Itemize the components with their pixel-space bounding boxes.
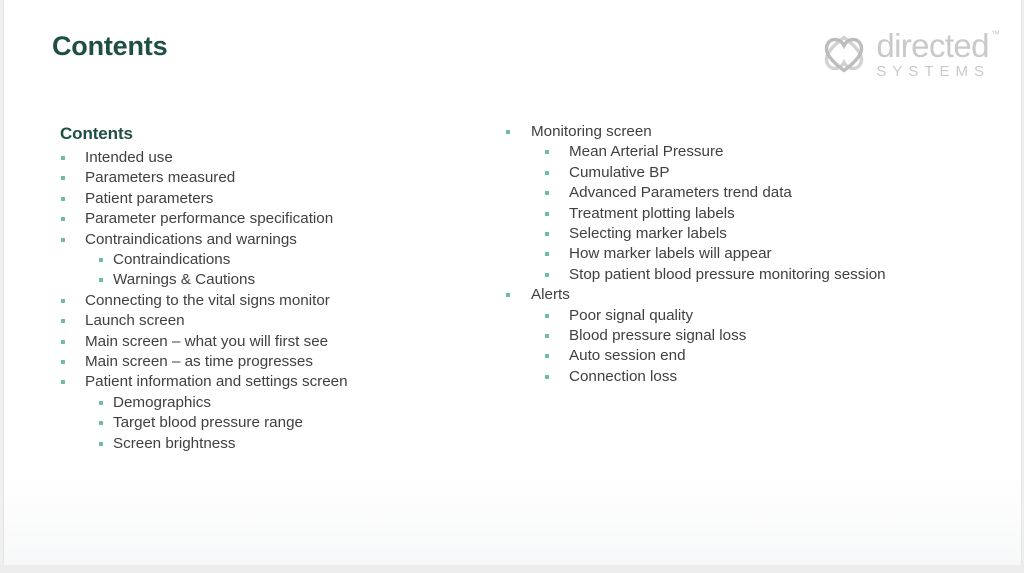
bullet-icon (545, 212, 549, 216)
list-item[interactable]: Cumulative BP (498, 163, 886, 183)
bullet-icon (545, 252, 549, 256)
page-title: Contents (52, 31, 167, 62)
list-item[interactable]: Warnings & Cautions (52, 270, 348, 290)
bullet-icon (99, 421, 103, 425)
logo-wordmark-text: directed (876, 27, 989, 64)
slide-viewer: Contents directed™ SYSTEMS Contents (0, 0, 1024, 573)
contents-list-right: Monitoring screen Mean Arterial Pressure… (498, 122, 886, 387)
list-item-label: Connection loss (569, 368, 677, 385)
list-item-label: Contraindications and warnings (85, 231, 297, 248)
list-item-label: Intended use (85, 149, 173, 166)
list-item-label: Stop patient blood pressure monitoring s… (569, 266, 886, 283)
bullet-icon (545, 171, 549, 175)
bullet-icon (61, 217, 65, 221)
list-item-label: Warnings & Cautions (113, 271, 255, 288)
list-item[interactable]: Contraindications (52, 250, 348, 270)
list-item[interactable]: Main screen – what you will first see (52, 332, 348, 352)
list-item-label: Monitoring screen (531, 123, 652, 140)
brand-logo: directed™ SYSTEMS (820, 29, 991, 79)
bullet-icon (61, 319, 65, 323)
bullet-icon (61, 238, 65, 242)
list-item[interactable]: Treatment plotting labels (498, 204, 886, 224)
list-item-label: Contraindications (113, 251, 230, 268)
list-item-label: Main screen – as time progresses (85, 353, 313, 370)
list-item[interactable]: Connecting to the vital signs monitor (52, 291, 348, 311)
list-item-label: Parameter performance specification (85, 210, 333, 227)
bullet-icon (61, 380, 65, 384)
list-item-label: How marker labels will appear (569, 245, 772, 262)
list-item-label: Demographics (113, 394, 211, 411)
list-item-label: Main screen – what you will first see (85, 333, 328, 350)
interlocking-loops-logo-icon (820, 30, 868, 78)
list-item[interactable]: Selecting marker labels (498, 224, 886, 244)
list-item-label: Selecting marker labels (569, 225, 727, 242)
list-item-label: Blood pressure signal loss (569, 327, 746, 344)
list-item-label: Launch screen (85, 312, 185, 329)
list-item-label: Target blood pressure range (113, 414, 303, 431)
list-item-label: Connecting to the vital signs monitor (85, 292, 330, 309)
list-item[interactable]: Connection loss (498, 367, 886, 387)
list-item[interactable]: Poor signal quality (498, 306, 886, 326)
list-item[interactable]: Blood pressure signal loss (498, 326, 886, 346)
list-item-label: Cumulative BP (569, 164, 669, 181)
list-item[interactable]: Main screen – as time progresses (52, 352, 348, 372)
list-item-label: Patient information and settings screen (85, 373, 348, 390)
list-item[interactable]: Intended use (52, 148, 348, 168)
list-item[interactable]: How marker labels will appear (498, 244, 886, 264)
list-item[interactable]: Monitoring screen (498, 122, 886, 142)
bullet-icon (61, 360, 65, 364)
logo-wordmark: directed™ (876, 29, 989, 62)
bullet-icon (545, 375, 549, 379)
list-item[interactable]: Stop patient blood pressure monitoring s… (498, 265, 886, 285)
list-item[interactable]: Screen brightness (52, 434, 348, 454)
contents-section-heading: Contents (60, 124, 133, 144)
bullet-icon (99, 401, 103, 405)
list-item[interactable]: Parameters measured (52, 168, 348, 188)
contents-list-left: Intended use Parameters measured Patient… (52, 148, 348, 454)
bullet-icon (61, 340, 65, 344)
list-item-label: Parameters measured (85, 169, 235, 186)
list-item[interactable]: Target blood pressure range (52, 413, 348, 433)
list-item[interactable]: Demographics (52, 393, 348, 413)
bullet-icon (99, 278, 103, 282)
bullet-icon (545, 314, 549, 318)
list-item-label: Treatment plotting labels (569, 205, 735, 222)
list-item[interactable]: Patient information and settings screen (52, 372, 348, 392)
bullet-icon (545, 354, 549, 358)
list-item[interactable]: Parameter performance specification (52, 209, 348, 229)
list-item-label: Screen brightness (113, 435, 235, 452)
bullet-icon (545, 334, 549, 338)
bullet-icon (61, 197, 65, 201)
bullet-icon (99, 442, 103, 446)
list-item[interactable]: Contraindications and warnings (52, 230, 348, 250)
list-item-label: Alerts (531, 286, 570, 303)
bullet-icon (61, 156, 65, 160)
list-item[interactable]: Auto session end (498, 346, 886, 366)
list-item-label: Mean Arterial Pressure (569, 143, 723, 160)
logo-wordmark-group: directed™ SYSTEMS (876, 29, 991, 79)
bullet-icon (545, 232, 549, 236)
logo-subwordmark: SYSTEMS (876, 64, 991, 79)
list-item-label: Auto session end (569, 347, 686, 364)
bullet-icon (545, 273, 549, 277)
bullet-icon (506, 130, 510, 134)
list-item-label: Poor signal quality (569, 307, 693, 324)
bullet-icon (99, 258, 103, 262)
list-item[interactable]: Alerts (498, 285, 886, 305)
list-item[interactable]: Patient parameters (52, 189, 348, 209)
bullet-icon (61, 176, 65, 180)
bullet-icon (545, 191, 549, 195)
slide-surface: Contents directed™ SYSTEMS Contents (4, 0, 1021, 565)
bullet-icon (61, 299, 65, 303)
list-item-label: Patient parameters (85, 190, 213, 207)
bullet-icon (545, 150, 549, 154)
list-item[interactable]: Launch screen (52, 311, 348, 331)
viewer-bottom-strip (0, 565, 1024, 573)
list-item-label: Advanced Parameters trend data (569, 184, 792, 201)
list-item[interactable]: Advanced Parameters trend data (498, 183, 886, 203)
list-item[interactable]: Mean Arterial Pressure (498, 142, 886, 162)
bullet-icon (506, 293, 510, 297)
trademark-icon: ™ (991, 30, 1000, 39)
